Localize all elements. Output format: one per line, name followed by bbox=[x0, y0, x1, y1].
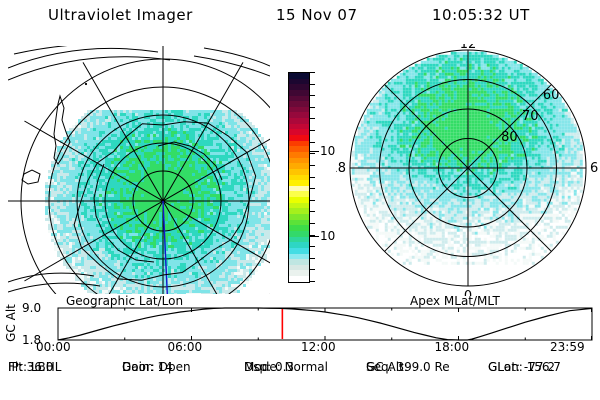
aurora-pixel bbox=[117, 218, 120, 221]
aurora-pixel bbox=[69, 176, 72, 179]
aurora-pixel bbox=[90, 266, 93, 269]
aurora-pixel bbox=[198, 170, 201, 173]
aurora-pixel bbox=[129, 245, 132, 248]
aurora-pixel bbox=[63, 182, 66, 185]
aurora-pixel bbox=[171, 266, 174, 269]
aurora-pixel bbox=[105, 149, 108, 152]
aurora-pixel bbox=[382, 151, 385, 154]
aurora-pixel bbox=[126, 209, 129, 212]
aurora-pixel bbox=[108, 140, 111, 143]
aurora-pixel bbox=[66, 224, 69, 227]
aurora-pixel bbox=[234, 116, 237, 119]
aurora-pixel bbox=[69, 215, 72, 218]
aurora-pixel bbox=[84, 119, 87, 122]
aurora-pixel bbox=[54, 197, 57, 200]
aurora-pixel bbox=[267, 149, 270, 152]
aurora-pixel bbox=[93, 140, 96, 143]
aurora-pixel bbox=[376, 136, 379, 139]
aurora-pixel bbox=[382, 115, 385, 118]
aurora-pixel bbox=[373, 121, 376, 124]
aurora-pixel bbox=[216, 194, 219, 197]
aurora-pixel bbox=[57, 191, 60, 194]
aurora-pixel bbox=[135, 161, 138, 164]
aurora-pixel bbox=[189, 230, 192, 233]
aurora-pixel bbox=[246, 260, 249, 263]
aurora-pixel bbox=[234, 269, 237, 272]
aurora-pixel bbox=[216, 275, 219, 278]
aurora-pixel bbox=[168, 167, 171, 170]
aurora-pixel bbox=[96, 266, 99, 269]
aurora-pixel bbox=[192, 245, 195, 248]
aurora-pixel bbox=[264, 224, 267, 227]
aurora-pixel bbox=[105, 242, 108, 245]
aurora-pixel bbox=[364, 160, 367, 163]
aurora-pixel bbox=[168, 242, 171, 245]
aurora-pixel bbox=[156, 248, 159, 251]
aurora-pixel bbox=[382, 118, 385, 121]
aurora-pixel bbox=[96, 152, 99, 155]
aurora-pixel bbox=[186, 236, 189, 239]
aurora-pixel bbox=[255, 170, 258, 173]
aurora-pixel bbox=[69, 179, 72, 182]
aurora-pixel bbox=[102, 185, 105, 188]
aurora-pixel bbox=[165, 152, 168, 155]
aurora-pixel bbox=[72, 137, 75, 140]
aurora-pixel bbox=[252, 230, 255, 233]
aurora-pixel bbox=[177, 185, 180, 188]
aurora-pixel bbox=[60, 167, 63, 170]
aurora-pixel bbox=[84, 143, 87, 146]
aurora-pixel bbox=[132, 236, 135, 239]
aurora-pixel bbox=[246, 272, 249, 275]
aurora-pixel bbox=[138, 275, 141, 278]
aurora-pixel bbox=[258, 155, 261, 158]
aurora-pixel bbox=[376, 205, 379, 208]
aurora-pixel bbox=[75, 182, 78, 185]
aurora-pixel bbox=[222, 149, 225, 152]
aurora-pixel bbox=[156, 149, 159, 152]
aurora-pixel bbox=[180, 239, 183, 242]
aurora-pixel bbox=[222, 278, 225, 281]
aurora-pixel bbox=[222, 161, 225, 164]
aurora-pixel bbox=[150, 245, 153, 248]
aurora-pixel bbox=[189, 170, 192, 173]
aurora-pixel bbox=[171, 233, 174, 236]
aurora-pixel bbox=[228, 218, 231, 221]
aurora-pixel bbox=[84, 227, 87, 230]
aurora-pixel bbox=[210, 278, 213, 281]
aurora-pixel bbox=[153, 161, 156, 164]
aurora-pixel bbox=[261, 230, 264, 233]
aurora-pixel bbox=[382, 202, 385, 205]
colorbar-major-tick bbox=[310, 236, 319, 237]
aurora-pixel bbox=[367, 178, 370, 181]
aurora-pixel bbox=[216, 188, 219, 191]
aurora-pixel bbox=[78, 227, 81, 230]
aurora-pixel bbox=[120, 155, 123, 158]
aurora-pixel bbox=[376, 106, 379, 109]
aurora-pixel bbox=[183, 278, 186, 281]
aurora-pixel bbox=[231, 260, 234, 263]
aurora-pixel bbox=[51, 185, 54, 188]
aurora-pixel bbox=[192, 155, 195, 158]
aurora-pixel bbox=[126, 272, 129, 275]
aurora-pixel bbox=[252, 227, 255, 230]
aurora-pixel bbox=[361, 121, 364, 124]
colorbar-minor-tick bbox=[310, 281, 315, 282]
aurora-pixel bbox=[180, 263, 183, 266]
aurora-pixel bbox=[267, 164, 270, 167]
aurora-pixel bbox=[180, 218, 183, 221]
aurora-pixel bbox=[370, 184, 373, 187]
aurora-pixel bbox=[132, 110, 135, 113]
aurora-pixel bbox=[219, 122, 222, 125]
aurora-pixel bbox=[144, 272, 147, 275]
aurora-pixel bbox=[183, 110, 186, 113]
aurora-pixel bbox=[126, 230, 129, 233]
aurora-pixel bbox=[213, 239, 216, 242]
aurora-pixel bbox=[225, 230, 228, 233]
aurora-pixel bbox=[195, 170, 198, 173]
aurora-pixel bbox=[168, 161, 171, 164]
colorbar-minor-tick bbox=[310, 84, 315, 85]
aurora-pixel bbox=[165, 188, 168, 191]
aurora-pixel bbox=[252, 203, 255, 206]
aurora-pixel bbox=[102, 290, 105, 293]
aurora-pixel bbox=[234, 266, 237, 269]
aurora-pixel bbox=[156, 134, 159, 137]
aurora-pixel bbox=[141, 194, 144, 197]
aurora-pixel bbox=[183, 257, 186, 260]
aurora-pixel bbox=[195, 230, 198, 233]
aurora-pixel bbox=[364, 205, 367, 208]
aurora-pixel bbox=[225, 290, 228, 293]
aurora-pixel bbox=[189, 218, 192, 221]
aurora-pixel bbox=[66, 257, 69, 260]
aurora-pixel bbox=[240, 209, 243, 212]
aurora-pixel bbox=[177, 242, 180, 245]
aurora-pixel bbox=[90, 263, 93, 266]
aurora-pixel bbox=[171, 281, 174, 284]
aurora-pixel bbox=[63, 197, 66, 200]
aurora-pixel bbox=[267, 233, 270, 236]
aurora-pixel bbox=[234, 275, 237, 278]
aurora-pixel bbox=[114, 182, 117, 185]
aurora-pixel bbox=[186, 110, 189, 113]
aurora-pixel bbox=[231, 227, 234, 230]
aurora-pixel bbox=[174, 242, 177, 245]
aurora-pixel bbox=[222, 188, 225, 191]
aurora-pixel bbox=[69, 164, 72, 167]
aurora-pixel bbox=[198, 203, 201, 206]
aurora-pixel bbox=[171, 155, 174, 158]
aurora-pixel bbox=[255, 236, 258, 239]
aurora-pixel bbox=[355, 181, 358, 184]
aurora-pixel bbox=[219, 290, 222, 293]
aurora-pixel bbox=[240, 176, 243, 179]
aurora-pixel bbox=[367, 226, 370, 229]
aurora-pixel bbox=[138, 191, 141, 194]
aurora-pixel bbox=[234, 278, 237, 281]
aurora-pixel bbox=[165, 167, 168, 170]
aurora-pixel bbox=[69, 230, 72, 233]
aurora-pixel bbox=[141, 152, 144, 155]
aurora-pixel bbox=[165, 155, 168, 158]
aurora-pixel bbox=[243, 284, 246, 287]
aurora-pixel bbox=[93, 137, 96, 140]
aurora-pixel bbox=[156, 185, 159, 188]
aurora-pixel bbox=[373, 136, 376, 139]
aurora-pixel bbox=[93, 230, 96, 233]
aurora-pixel bbox=[108, 227, 111, 230]
aurora-pixel bbox=[156, 266, 159, 269]
aurora-pixel bbox=[132, 284, 135, 287]
aurora-pixel bbox=[171, 224, 174, 227]
aurora-pixel bbox=[126, 281, 129, 284]
aurora-pixel bbox=[126, 287, 129, 290]
aurora-pixel bbox=[267, 209, 270, 212]
aurora-pixel bbox=[102, 284, 105, 287]
aurora-pixel bbox=[261, 239, 264, 242]
aurora-pixel bbox=[165, 116, 168, 119]
aurora-pixel bbox=[234, 167, 237, 170]
aurora-pixel bbox=[216, 242, 219, 245]
aurora-pixel bbox=[376, 127, 379, 130]
aurora-pixel bbox=[168, 281, 171, 284]
aurora-pixel bbox=[207, 203, 210, 206]
aurora-pixel bbox=[135, 176, 138, 179]
aurora-pixel bbox=[198, 176, 201, 179]
aurora-pixel bbox=[51, 236, 54, 239]
aurora-pixel bbox=[204, 167, 207, 170]
aurora-pixel bbox=[132, 239, 135, 242]
aurora-pixel bbox=[198, 224, 201, 227]
aurora-pixel bbox=[198, 125, 201, 128]
aurora-pixel bbox=[105, 161, 108, 164]
aurora-pixel bbox=[189, 233, 192, 236]
aurora-pixel bbox=[216, 278, 219, 281]
aurora-pixel bbox=[249, 143, 252, 146]
aurora-pixel bbox=[69, 191, 72, 194]
aurora-pixel bbox=[63, 170, 66, 173]
aurora-pixel bbox=[144, 203, 147, 206]
aurora-pixel bbox=[108, 113, 111, 116]
aurora-pixel bbox=[195, 212, 198, 215]
aurora-pixel bbox=[96, 230, 99, 233]
aurora-pixel bbox=[57, 179, 60, 182]
aurora-pixel bbox=[75, 155, 78, 158]
aurora-pixel bbox=[132, 116, 135, 119]
aurora-pixel bbox=[111, 209, 114, 212]
aurora-pixel bbox=[370, 121, 373, 124]
aurora-pixel bbox=[165, 221, 168, 224]
aurora-pixel bbox=[261, 194, 264, 197]
aurora-pixel bbox=[201, 227, 204, 230]
aurora-pixel bbox=[186, 275, 189, 278]
aurora-pixel bbox=[120, 260, 123, 263]
aurora-pixel bbox=[159, 182, 162, 185]
aurora-pixel bbox=[370, 205, 373, 208]
aurora-pixel bbox=[129, 224, 132, 227]
aurora-pixel bbox=[382, 208, 385, 211]
aurora-pixel bbox=[370, 175, 373, 178]
aurora-pixel bbox=[165, 149, 168, 152]
aurora-pixel bbox=[367, 181, 370, 184]
aurora-pixel bbox=[261, 212, 264, 215]
aurora-pixel bbox=[81, 116, 84, 119]
aurora-pixel bbox=[141, 266, 144, 269]
aurora-pixel bbox=[225, 218, 228, 221]
aurora-pixel bbox=[60, 188, 63, 191]
aurora-pixel bbox=[63, 221, 66, 224]
aurora-pixel bbox=[213, 155, 216, 158]
aurora-pixel bbox=[228, 227, 231, 230]
aurora-pixel bbox=[93, 266, 96, 269]
aurora-pixel bbox=[174, 266, 177, 269]
aurora-pixel bbox=[123, 185, 126, 188]
aurora-pixel bbox=[147, 269, 150, 272]
aurora-pixel bbox=[135, 227, 138, 230]
aurora-pixel bbox=[264, 155, 267, 158]
aurora-pixel bbox=[219, 149, 222, 152]
aurora-pixel bbox=[364, 199, 367, 202]
aurora-pixel bbox=[78, 254, 81, 257]
aurora-pixel bbox=[129, 158, 132, 161]
aurora-pixel bbox=[234, 281, 237, 284]
aurora-pixel bbox=[132, 260, 135, 263]
aurora-pixel bbox=[171, 242, 174, 245]
aurora-pixel bbox=[102, 119, 105, 122]
aurora-pixel bbox=[153, 287, 156, 290]
aurora-pixel bbox=[93, 224, 96, 227]
aurora-pixel bbox=[264, 185, 267, 188]
aurora-pixel bbox=[60, 227, 63, 230]
aurora-pixel bbox=[379, 118, 382, 121]
aurora-pixel bbox=[126, 191, 129, 194]
aurora-pixel bbox=[93, 113, 96, 116]
aurora-pixel bbox=[117, 221, 120, 224]
aurora-pixel bbox=[364, 175, 367, 178]
aurora-pixel bbox=[54, 224, 57, 227]
aurora-pixel bbox=[72, 215, 75, 218]
aurora-pixel bbox=[237, 176, 240, 179]
aurora-pixel bbox=[138, 143, 141, 146]
aurora-pixel bbox=[174, 188, 177, 191]
aurora-pixel bbox=[84, 230, 87, 233]
aurora-pixel bbox=[240, 278, 243, 281]
aurora-pixel bbox=[261, 206, 264, 209]
aurora-pixel bbox=[138, 170, 141, 173]
aurora-pixel bbox=[138, 137, 141, 140]
aurora-pixel bbox=[198, 233, 201, 236]
aurora-pixel bbox=[183, 167, 186, 170]
aurora-pixel bbox=[150, 152, 153, 155]
aurora-pixel bbox=[138, 257, 141, 260]
aurora-pixel bbox=[75, 245, 78, 248]
aurora-pixel bbox=[240, 143, 243, 146]
aurora-pixel bbox=[90, 281, 93, 284]
aurora-pixel bbox=[144, 242, 147, 245]
colorbar-minor-tick bbox=[310, 258, 315, 259]
aurora-pixel bbox=[228, 155, 231, 158]
aurora-pixel bbox=[213, 233, 216, 236]
aurora-pixel bbox=[72, 125, 75, 128]
aurora-pixel bbox=[210, 182, 213, 185]
aurora-pixel bbox=[57, 185, 60, 188]
aurora-pixel bbox=[120, 185, 123, 188]
aurora-pixel bbox=[156, 140, 159, 143]
aurora-pixel bbox=[198, 131, 201, 134]
aurora-pixel bbox=[66, 239, 69, 242]
aurora-pixel bbox=[78, 143, 81, 146]
aurora-pixel bbox=[264, 182, 267, 185]
aurora-pixel bbox=[198, 269, 201, 272]
aurora-pixel bbox=[373, 142, 376, 145]
aurora-pixel bbox=[102, 170, 105, 173]
aurora-pixel bbox=[222, 185, 225, 188]
aurora-pixel bbox=[168, 206, 171, 209]
aurora-pixel bbox=[225, 116, 228, 119]
aurora-pixel bbox=[45, 206, 48, 209]
aurora-pixel bbox=[261, 260, 264, 263]
aurora-pixel bbox=[231, 266, 234, 269]
aurora-pixel bbox=[355, 178, 358, 181]
aurora-pixel bbox=[102, 281, 105, 284]
aurora-pixel bbox=[231, 257, 234, 260]
aurora-pixel bbox=[225, 167, 228, 170]
aurora-pixel bbox=[84, 266, 87, 269]
aurora-pixel bbox=[99, 149, 102, 152]
aurora-pixel bbox=[117, 287, 120, 290]
aurora-pixel bbox=[147, 287, 150, 290]
aurora-pixel bbox=[141, 191, 144, 194]
aurora-pixel bbox=[243, 143, 246, 146]
aurora-pixel bbox=[373, 220, 376, 223]
aurora-pixel bbox=[87, 197, 90, 200]
aurora-pixel bbox=[237, 248, 240, 251]
aurora-pixel bbox=[96, 167, 99, 170]
aurora-pixel bbox=[69, 236, 72, 239]
aurora-pixel bbox=[201, 206, 204, 209]
aurora-pixel bbox=[159, 161, 162, 164]
aurora-pixel bbox=[201, 137, 204, 140]
aurora-pixel bbox=[159, 116, 162, 119]
aurora-pixel bbox=[93, 287, 96, 290]
aurora-pixel bbox=[177, 248, 180, 251]
aurora-pixel bbox=[204, 113, 207, 116]
aurora-pixel bbox=[219, 236, 222, 239]
aurora-pixel bbox=[171, 191, 174, 194]
aurora-pixel bbox=[156, 173, 159, 176]
aurora-pixel bbox=[141, 227, 144, 230]
aurora-pixel bbox=[129, 128, 132, 131]
aurora-pixel bbox=[60, 179, 63, 182]
aurora-pixel bbox=[123, 290, 126, 293]
aurora-pixel bbox=[216, 209, 219, 212]
aurora-pixel bbox=[180, 248, 183, 251]
aurora-pixel bbox=[364, 202, 367, 205]
aurora-pixel bbox=[132, 230, 135, 233]
aurora-pixel bbox=[207, 110, 210, 113]
colorbar-minor-tick bbox=[310, 130, 315, 131]
aurora-pixel bbox=[234, 146, 237, 149]
aurora-pixel bbox=[72, 242, 75, 245]
aurora-pixel bbox=[264, 173, 267, 176]
aurora-pixel bbox=[225, 125, 228, 128]
aurora-pixel bbox=[192, 158, 195, 161]
aurora-pixel bbox=[153, 245, 156, 248]
aurora-pixel bbox=[207, 257, 210, 260]
